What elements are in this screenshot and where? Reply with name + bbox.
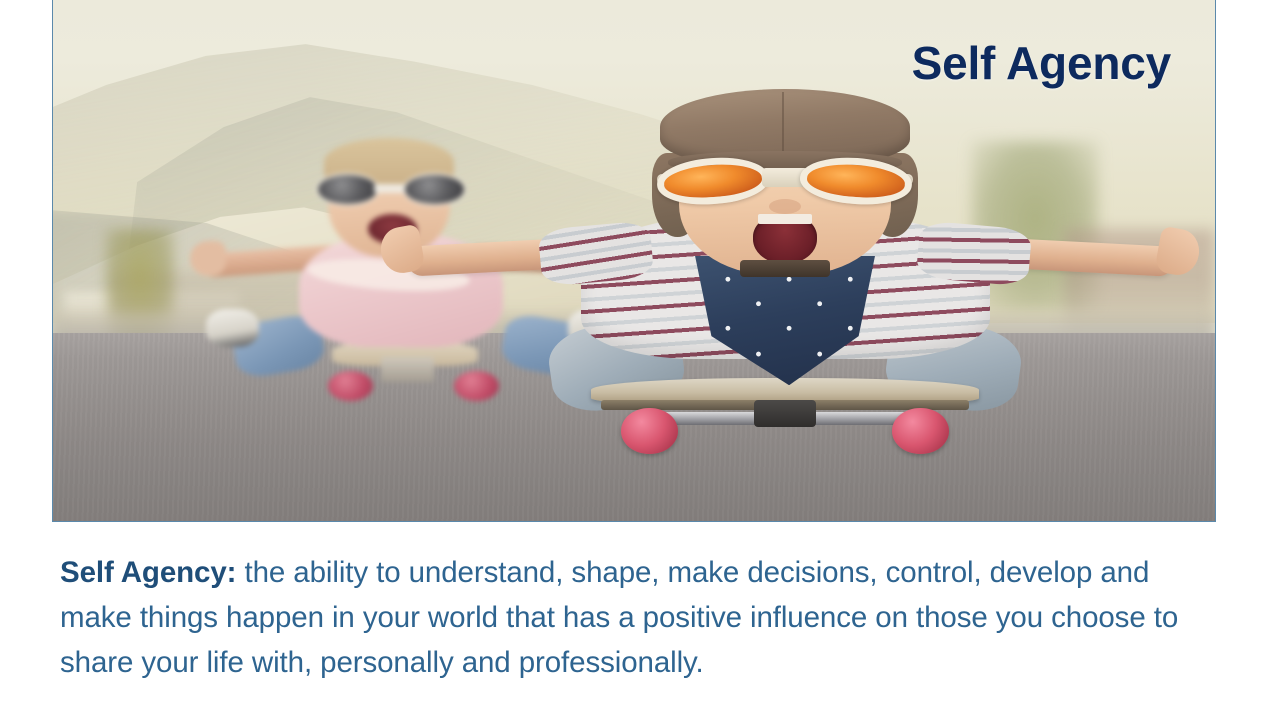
child-b-head: [652, 89, 918, 279]
hero-image-frame: Self Agency: [52, 0, 1216, 522]
child-b-goggle-lens-left: [656, 154, 771, 207]
child-b-chin-strap: [740, 260, 830, 277]
page-title: Self Agency: [912, 36, 1171, 90]
child-b-goggles-icon: [657, 157, 912, 205]
child-b-wheel-left: [621, 408, 677, 454]
child-a-goggle-lens-left: [316, 173, 379, 206]
definition-paragraph: Self Agency: the ability to understand, …: [60, 550, 1212, 685]
child-b-goggle-lens-right: [799, 154, 914, 207]
child-b-skateboard-truck-mount: [754, 400, 815, 427]
child-a-goggle-lens-right: [403, 173, 466, 206]
slide: Self Agency Self Agency: the ability to …: [0, 0, 1280, 720]
child-a-hand-left: [190, 241, 227, 276]
child-b-cap-seam: [782, 92, 784, 153]
foreground-child: [529, 89, 1040, 469]
child-a-wheel-right: [454, 371, 499, 401]
child-a-shoe-left: [206, 309, 259, 347]
child-a-goggles-icon: [316, 173, 466, 206]
child-a-skateboard-truck: [381, 357, 434, 381]
child-b-wheel-right: [892, 408, 948, 454]
child-a-wheel-left: [328, 371, 373, 401]
hero-image: Self Agency: [53, 0, 1215, 521]
definition-term: Self Agency:: [60, 556, 236, 589]
child-b-teeth: [758, 214, 811, 224]
